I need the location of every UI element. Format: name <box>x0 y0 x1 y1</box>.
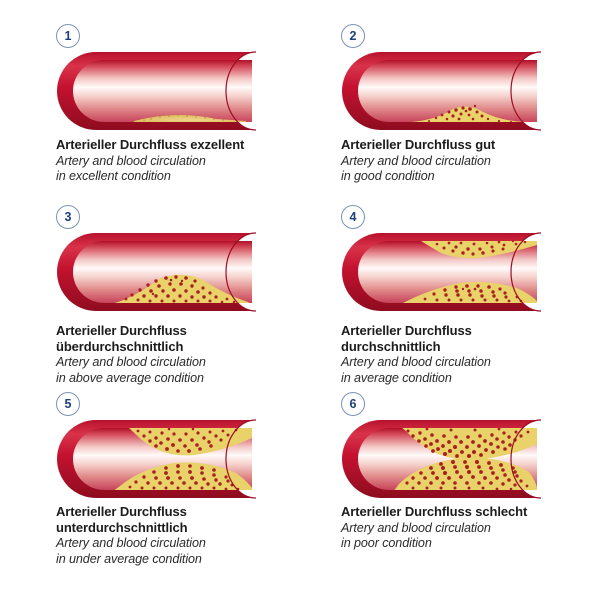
panel-caption-3: Arterieller Durchfluss überdurchschnittl… <box>56 323 331 386</box>
panel-subtitle: Artery and blood circulation in under av… <box>56 536 331 567</box>
panel-title: Arterieller Durchfluss gut <box>341 137 600 153</box>
panel-subtitle: Artery and blood circulation in average … <box>341 355 600 386</box>
panel-caption-5: Arterieller Durchfluss unterdurchschnitt… <box>56 504 331 567</box>
panel-number-badge: 4 <box>341 205 365 229</box>
infographic-board: 1 <box>0 0 600 600</box>
panel-number-badge: 2 <box>341 24 365 48</box>
panel-number-label: 3 <box>65 211 72 224</box>
artery-illustration-1 <box>56 50 261 132</box>
panel-caption-1: Arterieller Durchfluss exzellent Artery … <box>56 137 331 185</box>
artery-illustration-5 <box>56 418 261 500</box>
panel-number-label: 1 <box>65 30 72 43</box>
panel-subtitle: Artery and blood circulation in poor con… <box>341 521 600 552</box>
panel-title: Arterieller Durchfluss unterdurchschnitt… <box>56 504 331 535</box>
panel-subtitle: Artery and blood circulation in excellen… <box>56 154 331 185</box>
panel-number-label: 5 <box>65 398 72 411</box>
artery-illustration-2 <box>341 50 546 132</box>
panel-title: Arterieller Durchfluss exzellent <box>56 137 331 153</box>
panel-number-badge: 1 <box>56 24 80 48</box>
panel-title: Arterieller Durchfluss überdurchschnittl… <box>56 323 331 354</box>
panel-title: Arterieller Durchfluss durchschnittlich <box>341 323 600 354</box>
panel-subtitle: Artery and blood circulation in above av… <box>56 355 331 386</box>
panel-number-label: 6 <box>350 398 357 411</box>
panel-number-badge: 3 <box>56 205 80 229</box>
artery-illustration-3 <box>56 231 261 313</box>
panel-number-label: 4 <box>350 211 357 224</box>
panel-subtitle: Artery and blood circulation in good con… <box>341 154 600 185</box>
panel-caption-2: Arterieller Durchfluss gut Artery and bl… <box>341 137 600 185</box>
panel-number-badge: 6 <box>341 392 365 416</box>
artery-illustration-6 <box>341 418 546 500</box>
artery-illustration-4 <box>341 231 546 313</box>
panel-number-badge: 5 <box>56 392 80 416</box>
panel-caption-6: Arterieller Durchfluss schlecht Artery a… <box>341 504 600 552</box>
panel-title: Arterieller Durchfluss schlecht <box>341 504 600 520</box>
panel-caption-4: Arterieller Durchfluss durchschnittlich … <box>341 323 600 386</box>
panel-number-label: 2 <box>350 30 357 43</box>
